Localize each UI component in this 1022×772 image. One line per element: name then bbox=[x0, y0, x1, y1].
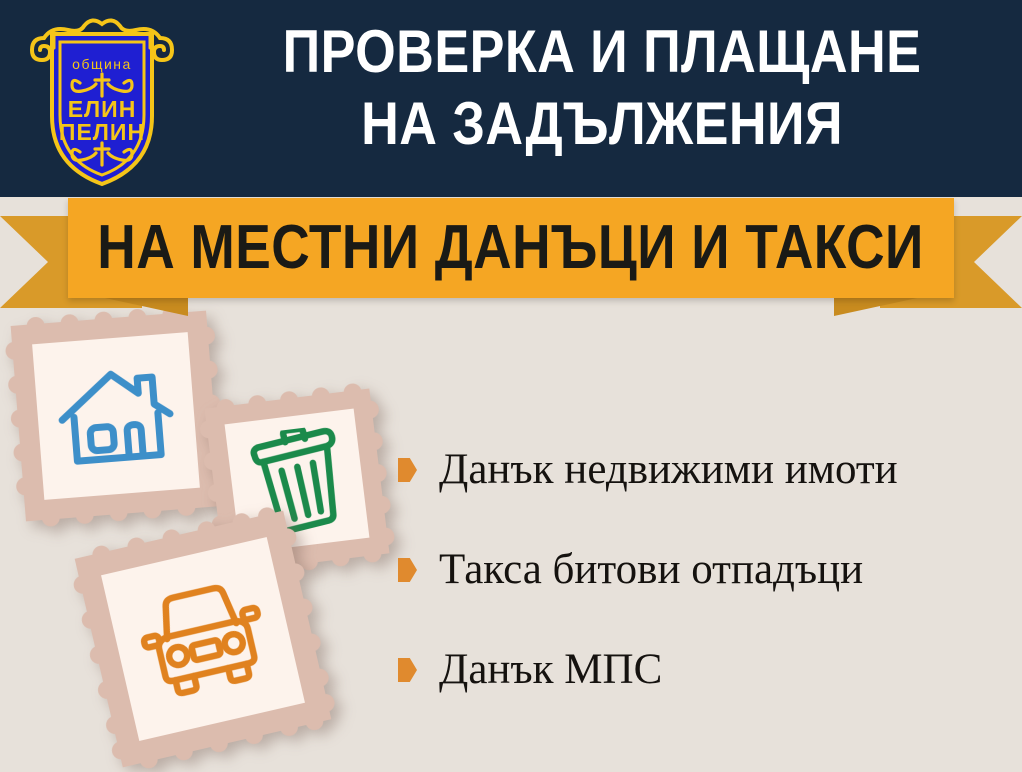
list-item[interactable]: Такса битови отпадъци bbox=[398, 520, 1008, 620]
list-item[interactable]: Данък МПС bbox=[398, 620, 1008, 720]
list-item[interactable]: Данък недвижими имоти bbox=[398, 420, 1008, 520]
subtitle-ribbon: НА МЕСТНИ ДАНЪЦИ И ТАКСИ bbox=[0, 198, 1022, 310]
ribbon-subtitle-text: НА МЕСТНИ ДАНЪЦИ И ТАКСИ bbox=[98, 217, 925, 279]
page-title-line-2: НА ЗАДЪЛЖЕНИЯ bbox=[244, 88, 961, 160]
logo-name-line2: ПЕЛИН bbox=[59, 119, 145, 145]
page-title-line-1: ПРОВЕРКА И ПЛАЩАНЕ bbox=[283, 18, 922, 85]
municipality-coat-of-arms-logo: община ЕЛИН ПЕЛИН bbox=[22, 8, 182, 190]
tax-type-list: Данък недвижими имоти Такса битови отпад… bbox=[398, 420, 1008, 720]
house-icon bbox=[52, 359, 180, 472]
logo-top-word: община bbox=[72, 56, 132, 72]
stamp-paper-vehicle bbox=[101, 537, 305, 741]
arrow-bullet-icon bbox=[398, 658, 417, 682]
stamp-card-property bbox=[11, 311, 222, 522]
coat-of-arms-svg: община ЕЛИН ПЕЛИН bbox=[22, 8, 182, 190]
stamp-paper-property bbox=[32, 332, 200, 500]
poster-canvas: община ЕЛИН ПЕЛИН ПРОВЕРКА И ПЛАЩАНЕ НА … bbox=[0, 0, 1022, 772]
car-icon bbox=[130, 574, 276, 704]
list-item-label: Данък МПС bbox=[439, 646, 662, 694]
list-item-label: Данък недвижими имоти bbox=[439, 446, 898, 494]
list-item-label: Такса битови отпадъци bbox=[439, 546, 863, 594]
ribbon-center-panel: НА МЕСТНИ ДАНЪЦИ И ТАКСИ bbox=[68, 198, 954, 298]
page-title: ПРОВЕРКА И ПЛАЩАНЕ НА ЗАДЪЛЖЕНИЯ bbox=[244, 16, 961, 160]
arrow-bullet-icon bbox=[398, 558, 417, 582]
arrow-bullet-icon bbox=[398, 458, 417, 482]
